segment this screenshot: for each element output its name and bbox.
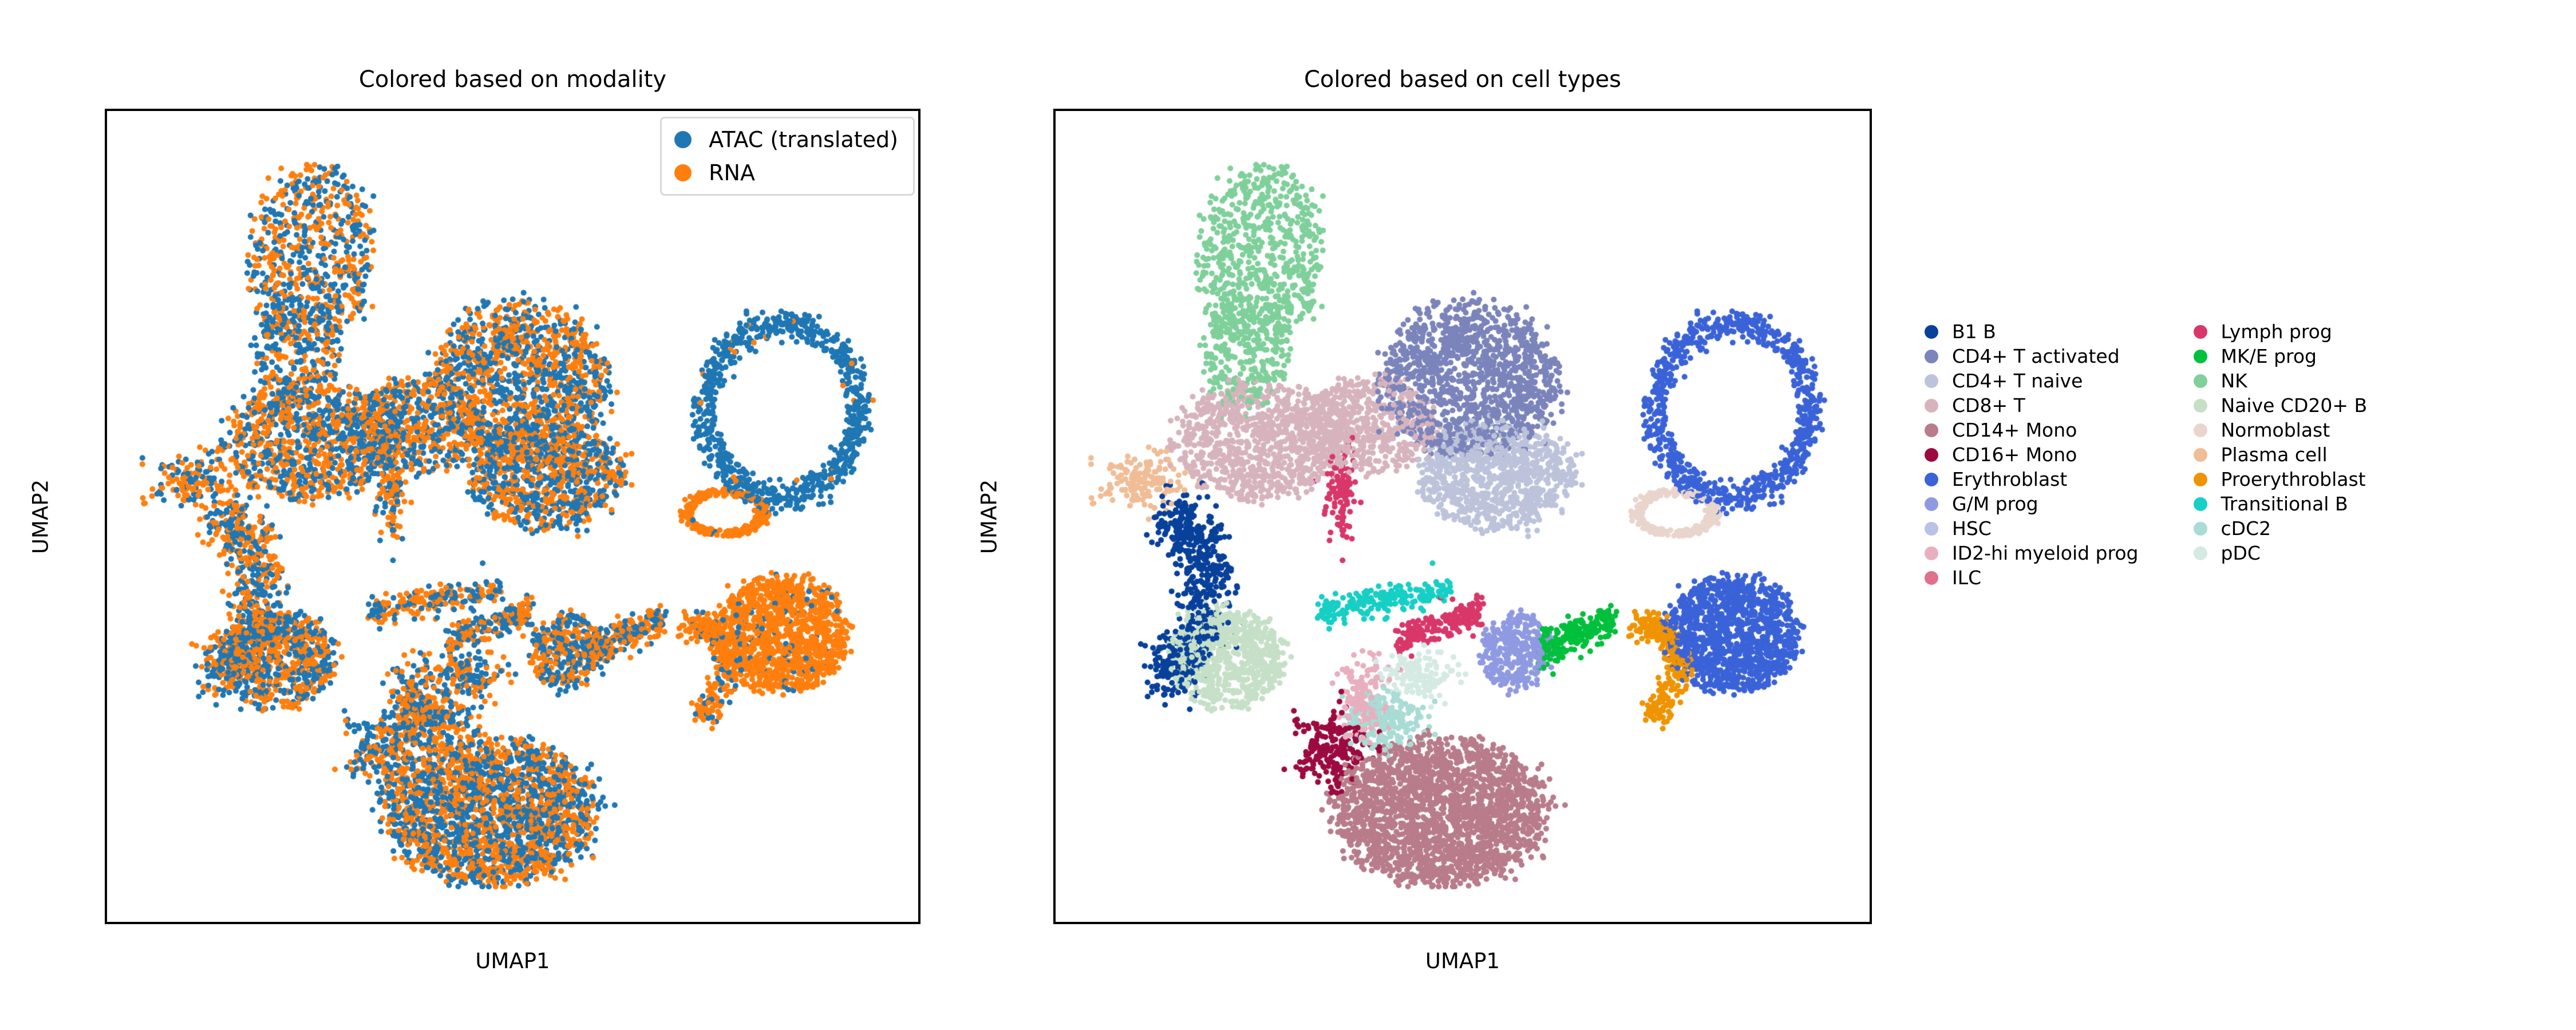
legend-swatch-icon <box>1925 448 1938 462</box>
panel-modality: Colored based on modality ATAC (translat… <box>105 109 920 924</box>
legend-label: Transitional B <box>2221 494 2348 513</box>
legend-label: CD4+ T activated <box>1952 347 2120 366</box>
legend-swatch-icon <box>2194 350 2207 363</box>
legend-item-naive-cd20plus-b[interactable]: Naive CD20+ B <box>2194 393 2368 418</box>
legend-label-rna: RNA <box>709 162 755 184</box>
legend-item-proerythroblast[interactable]: Proerythroblast <box>2194 467 2368 492</box>
legend-label: Erythroblast <box>1952 470 2067 489</box>
legend-swatch-icon <box>1925 522 1938 536</box>
y-axis-label-right: UMAP2 <box>977 479 1002 553</box>
legend-swatch-icon <box>2194 522 2207 536</box>
legend-swatch-icon <box>1925 546 1938 560</box>
celltype-legend: B1 BCD4+ T activatedCD4+ T naiveCD8+ TCD… <box>1925 319 2367 590</box>
legend-item-atac[interactable]: ATAC (translated) <box>674 129 898 150</box>
legend-label: CD8+ T <box>1952 396 2025 415</box>
legend-swatch-icon <box>2194 423 2207 437</box>
legend-swatch-icon <box>2194 325 2207 339</box>
legend-label: ILC <box>1952 568 1981 587</box>
legend-item-cdc2[interactable]: cDC2 <box>2194 516 2368 541</box>
legend-swatch-rna <box>674 164 692 181</box>
y-axis-label-left: UMAP2 <box>29 479 53 553</box>
legend-item-transitional-b[interactable]: Transitional B <box>2194 492 2368 516</box>
legend-label: CD16+ Mono <box>1952 445 2077 464</box>
legend-label: CD4+ T naive <box>1952 371 2083 390</box>
legend-label: Proerythroblast <box>2221 470 2366 489</box>
legend-swatch-icon <box>2194 497 2207 511</box>
legend-item-rna[interactable]: RNA <box>674 162 898 184</box>
legend-item-plasma-cell[interactable]: Plasma cell <box>2194 442 2368 467</box>
panel-celltypes-title: Colored based on cell types <box>1053 66 1872 93</box>
legend-swatch-icon <box>2194 546 2207 560</box>
legend-swatch-icon <box>1925 350 1938 363</box>
legend-swatch-icon <box>1925 374 1938 388</box>
legend-item-lymph-prog[interactable]: Lymph prog <box>2194 319 2368 344</box>
legend-label: Plasma cell <box>2221 445 2328 464</box>
legend-label: G/M prog <box>1952 494 2038 513</box>
legend-label: Lymph prog <box>2221 322 2332 341</box>
legend-swatch-icon <box>1925 325 1938 339</box>
legend-label: cDC2 <box>2221 519 2271 538</box>
legend-label: MK/E prog <box>2221 347 2317 366</box>
legend-item-cd8plus-t[interactable]: CD8+ T <box>1925 393 2139 418</box>
legend-label: B1 B <box>1952 322 1996 341</box>
celltype-legend-column-1: B1 BCD4+ T activatedCD4+ T naiveCD8+ TCD… <box>1925 319 2139 590</box>
modality-legend: ATAC (translated) RNA <box>660 117 915 196</box>
celltype-legend-column-2: Lymph progMK/E progNKNaive CD20+ BNormob… <box>2194 319 2368 565</box>
legend-item-g-m-prog[interactable]: G/M prog <box>1925 492 2139 516</box>
legend-label: NK <box>2221 371 2247 390</box>
legend-swatch-icon <box>2194 473 2207 486</box>
scatter-plot-celltypes <box>1053 109 1872 924</box>
legend-swatch-atac <box>674 131 692 148</box>
legend-swatch-icon <box>1925 399 1938 413</box>
legend-label-atac: ATAC (translated) <box>709 129 898 150</box>
legend-item-id2-hi-myeloid-prog[interactable]: ID2-hi myeloid prog <box>1925 541 2139 565</box>
legend-item-cd14plus-mono[interactable]: CD14+ Mono <box>1925 418 2139 442</box>
legend-swatch-icon <box>2194 448 2207 462</box>
panel-modality-title: Colored based on modality <box>105 66 920 93</box>
x-axis-label-left: UMAP1 <box>105 949 920 973</box>
figure-root: Colored based on modality ATAC (translat… <box>0 0 2576 1030</box>
legend-item-cd16plus-mono[interactable]: CD16+ Mono <box>1925 442 2139 467</box>
legend-item-b1-b[interactable]: B1 B <box>1925 319 2139 344</box>
legend-swatch-icon <box>1925 423 1938 437</box>
legend-item-cd4plus-t-activated[interactable]: CD4+ T activated <box>1925 344 2139 369</box>
legend-swatch-icon <box>1925 473 1938 486</box>
legend-item-pdc[interactable]: pDC <box>2194 541 2368 565</box>
legend-label: CD14+ Mono <box>1952 421 2077 439</box>
scatter-plot-modality <box>105 109 920 924</box>
legend-item-erythroblast[interactable]: Erythroblast <box>1925 467 2139 492</box>
legend-swatch-icon <box>2194 399 2207 413</box>
legend-item-nk[interactable]: NK <box>2194 369 2368 393</box>
legend-item-normoblast[interactable]: Normoblast <box>2194 418 2368 442</box>
legend-item-hsc[interactable]: HSC <box>1925 516 2139 541</box>
legend-swatch-icon <box>1925 571 1938 585</box>
legend-label: HSC <box>1952 519 1992 538</box>
legend-swatch-icon <box>2194 374 2207 388</box>
legend-swatch-icon <box>1925 497 1938 511</box>
legend-item-cd4plus-t-naive[interactable]: CD4+ T naive <box>1925 369 2139 393</box>
legend-item-mk-e-prog[interactable]: MK/E prog <box>2194 344 2368 369</box>
legend-label: pDC <box>2221 544 2261 562</box>
x-axis-label-right: UMAP1 <box>1053 949 1872 973</box>
legend-label: ID2-hi myeloid prog <box>1952 544 2139 562</box>
legend-item-ilc[interactable]: ILC <box>1925 565 2139 590</box>
legend-label: Normoblast <box>2221 421 2330 439</box>
panel-celltypes: Colored based on cell types UMAP1 UMAP2 <box>1053 109 1872 924</box>
legend-label: Naive CD20+ B <box>2221 396 2368 415</box>
